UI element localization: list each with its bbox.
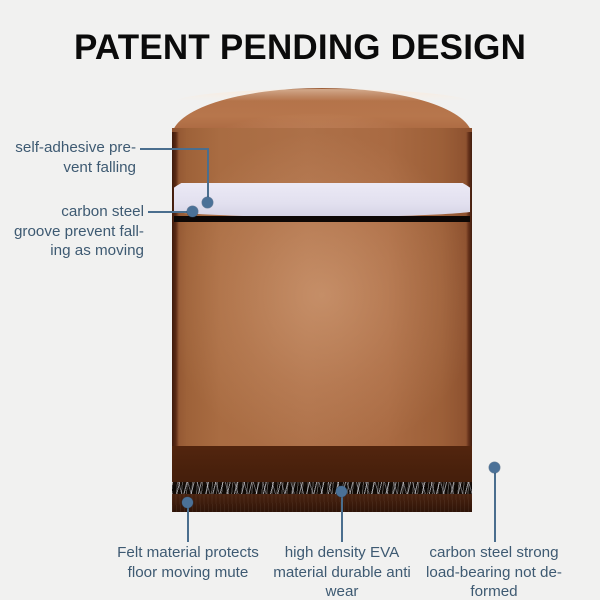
adhesive-strip — [174, 183, 470, 219]
annotation-carbon-load-line-2: load-bearing not de- — [418, 563, 570, 583]
leader-line-self-adhesive-horizontal — [140, 148, 208, 150]
leader-dot-eva-material — [336, 486, 347, 497]
page-title: PATENT PENDING DESIGN — [0, 28, 600, 68]
product-cap-highlight — [173, 89, 471, 103]
leader-line-felt-material — [187, 502, 189, 542]
leader-line-carbon-load — [494, 468, 496, 542]
annotation-carbon-load-line-1: carbon steel strong — [418, 543, 570, 563]
annotation-felt-material-line-1: Felt material protects — [105, 543, 271, 563]
annotation-felt-material: Felt material protects floor moving mute — [105, 543, 271, 582]
annotation-self-adhesive-line-2: vent falling — [0, 158, 136, 178]
annotation-self-adhesive-line-1: self-adhesive pre- — [0, 138, 136, 158]
felt-base-block — [172, 494, 472, 512]
adhesive-strip-shadow-arc — [174, 216, 470, 222]
annotation-carbon-load-line-3: formed — [418, 582, 570, 600]
felt-bottom-strip — [172, 482, 472, 494]
leader-dot-self-adhesive — [202, 197, 213, 208]
annotation-carbon-steel-groove: carbon steel groove prevent fall- ing as… — [0, 202, 144, 261]
annotation-eva-material-line-2: material durable anti — [266, 563, 418, 583]
annotation-eva-material-line-1: high density EVA — [266, 543, 418, 563]
leader-dot-felt-material — [182, 497, 193, 508]
annotation-carbon-groove-line-3: ing as moving — [0, 241, 144, 261]
adhesive-strip-shadow — [174, 216, 470, 222]
annotation-eva-material-line-3: wear — [266, 582, 418, 600]
annotation-carbon-groove-line-1: carbon steel — [0, 202, 144, 222]
product-illustration — [172, 88, 472, 512]
product-infographic: PATENT PENDING DESIGN self-adhesive p — [0, 0, 600, 600]
annotation-carbon-steel-load: carbon steel strong load-bearing not de-… — [418, 543, 570, 600]
adhesive-strip-surface — [174, 183, 470, 217]
leader-line-eva-material — [341, 492, 343, 542]
leader-dot-carbon-groove — [187, 206, 198, 217]
annotation-carbon-groove-line-2: groove prevent fall- — [0, 222, 144, 242]
annotation-self-adhesive: self-adhesive pre- vent falling — [0, 138, 136, 177]
annotation-eva-material: high density EVA material durable anti w… — [266, 543, 418, 600]
leader-line-self-adhesive-vertical — [207, 148, 209, 204]
leader-dot-carbon-load — [489, 462, 500, 473]
annotation-felt-material-line-2: floor moving mute — [105, 563, 271, 583]
